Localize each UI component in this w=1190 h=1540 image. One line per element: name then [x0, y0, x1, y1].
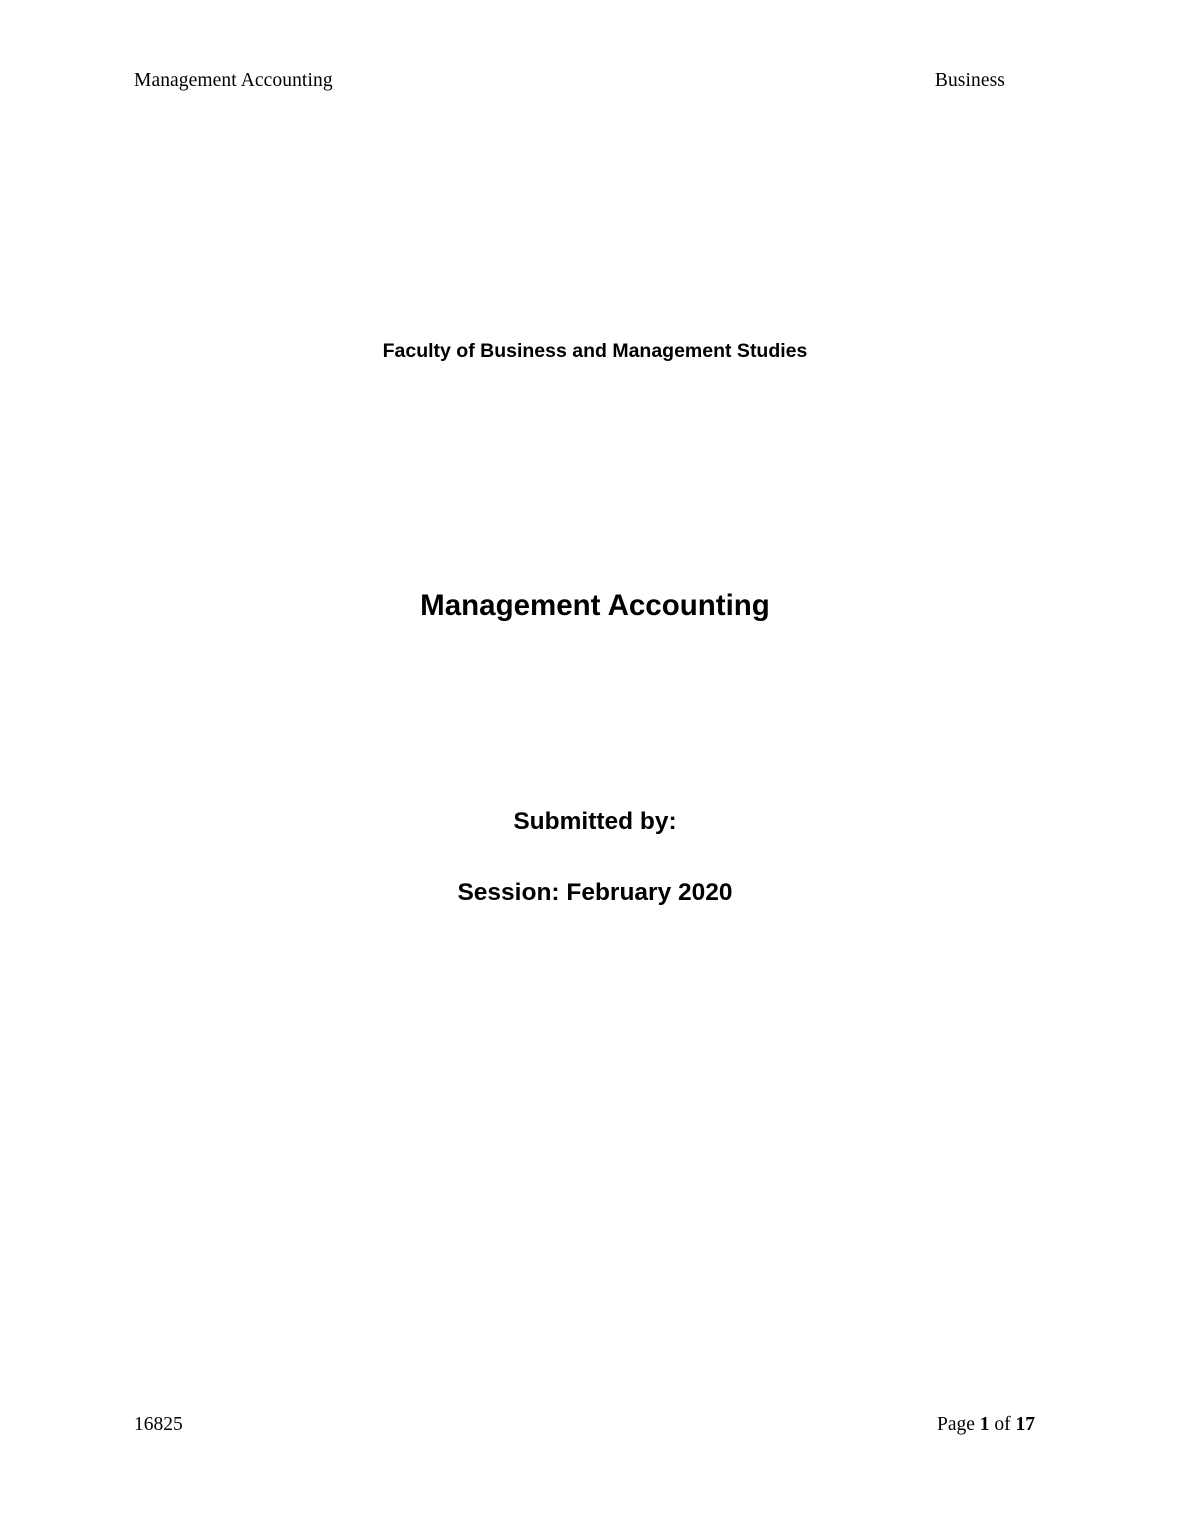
- header-left-text: Management Accounting: [134, 68, 333, 94]
- page-number-indicator: Page 1 of 17: [937, 1412, 1035, 1438]
- page-header: Management Accounting Business: [134, 68, 1005, 94]
- submitted-by-label: Submitted by:: [0, 805, 1190, 839]
- current-page-number: 1: [980, 1414, 990, 1435]
- total-page-count: 17: [1016, 1414, 1036, 1435]
- page-word-label: Page: [937, 1414, 975, 1435]
- footer-document-id: 16825: [134, 1412, 183, 1438]
- page-title: Management Accounting: [0, 586, 1190, 626]
- session-label: Session: February 2020: [0, 876, 1190, 910]
- of-word-label: of: [994, 1414, 1010, 1435]
- header-right-text: Business: [935, 68, 1005, 94]
- faculty-heading: Faculty of Business and Management Studi…: [0, 338, 1190, 364]
- document-page: Management Accounting Business Faculty o…: [0, 0, 1190, 1540]
- page-footer: 16825 Page 1 of 17: [134, 1412, 1035, 1438]
